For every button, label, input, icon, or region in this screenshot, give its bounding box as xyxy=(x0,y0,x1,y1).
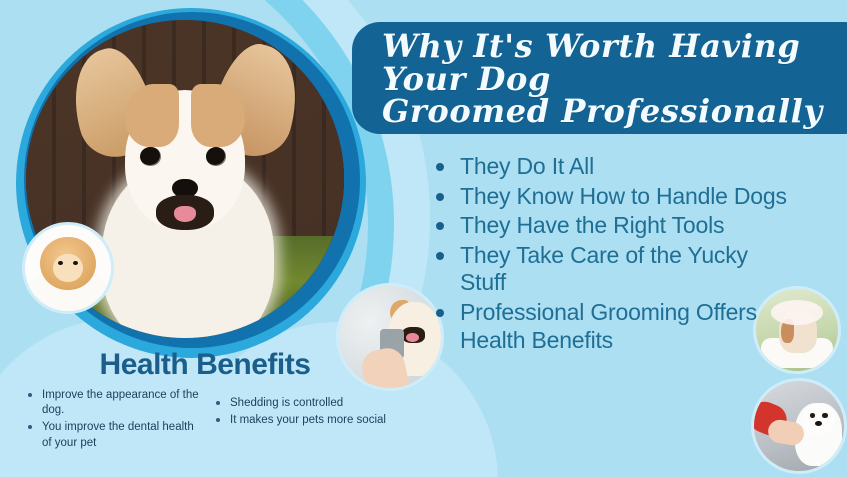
brushing-dog-tongue xyxy=(406,333,418,342)
list-item: You improve the dental health of your pe… xyxy=(24,420,204,450)
list-item: They Do It All xyxy=(430,153,790,181)
dog-tongue xyxy=(174,206,196,222)
list-item: They Know How to Handle Dogs xyxy=(430,183,790,211)
list-item: Improve the appearance of the dog. xyxy=(24,388,204,418)
title-banner: Why It's Worth Having Your Dog Groomed P… xyxy=(352,22,847,134)
list-item: They Have the Right Tools xyxy=(430,212,790,240)
main-reasons-list: They Do It All They Know How to Handle D… xyxy=(430,153,790,356)
poodle-right-eye xyxy=(822,413,827,418)
list-item: Shedding is controlled xyxy=(212,396,402,411)
list-item: Professional Grooming Offers Health Bene… xyxy=(430,299,790,354)
inset-pomeranian-photo xyxy=(22,222,114,314)
health-benefits-right-column: Shedding is controlled It makes your pet… xyxy=(212,396,402,430)
health-benefits-heading: Health Benefits xyxy=(0,348,410,382)
pomeranian-face xyxy=(53,254,82,282)
poodle-left-eye xyxy=(810,413,815,418)
list-item: It makes your pets more social xyxy=(212,413,402,428)
page-title: Why It's Worth Having Your Dog Groomed P… xyxy=(382,30,846,128)
poodle-head xyxy=(803,404,835,435)
list-item: They Take Care of the Yucky Stuff xyxy=(430,242,790,297)
inset-poodle-photo xyxy=(751,378,847,474)
infographic-canvas: Why It's Worth Having Your Dog Groomed P… xyxy=(0,0,847,477)
dog-head-marking-left xyxy=(125,84,179,148)
health-benefits-left-column: Improve the appearance of the dog. You i… xyxy=(24,388,204,453)
